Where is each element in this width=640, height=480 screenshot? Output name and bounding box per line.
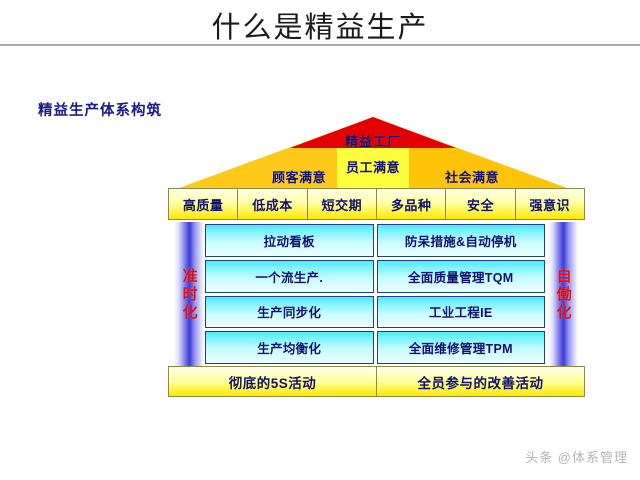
foundation-beam: 彻底的5S活动 全员参与的改善活动 [168, 366, 585, 397]
practice-column-right: 防呆措施&自动停机 全面质量管理TQM 工业工程IE 全面维修管理TPM [377, 224, 546, 364]
watermark: 头条 @体系管理 [525, 447, 628, 466]
pillar-left-label: 准时化 [179, 268, 198, 322]
pillar-left: 准时化 [174, 222, 204, 368]
top-beam: 高质量 低成本 短交期 多品种 安全 强意识 [168, 188, 585, 220]
foundation-cell: 彻底的5S活动 [169, 367, 377, 396]
practice-column-left: 拉动看板 一个流生产. 生产同步化 生产均衡化 [205, 224, 374, 364]
roof-left-label: 顾客满意 [259, 167, 339, 186]
practice-cell: 全面维修管理TPM [377, 331, 546, 364]
practice-cell: 防呆措施&自动停机 [377, 224, 546, 257]
top-beam-cell: 高质量 [169, 189, 238, 219]
roof-center-label: 员工满意 [337, 157, 409, 176]
practice-cell: 生产均衡化 [205, 331, 374, 364]
practice-cell: 全面质量管理TQM [377, 260, 546, 293]
lean-production-house-diagram: 精益工厂 顾客满意 员工满意 社会满意 高质量 低成本 短交期 多品种 安全 强… [0, 0, 640, 480]
practice-cell: 一个流生产. [205, 260, 374, 293]
practice-grid: 拉动看板 一个流生产. 生产同步化 生产均衡化 防呆措施&自动停机 全面质量管理… [205, 224, 545, 364]
practice-cell: 工业工程IE [377, 296, 546, 329]
roof-group: 精益工厂 顾客满意 员工满意 社会满意 [179, 117, 567, 189]
roof-top-label: 精益工厂 [179, 131, 567, 150]
top-beam-cell: 强意识 [516, 189, 584, 219]
top-beam-cell: 短交期 [308, 189, 377, 219]
practice-cell: 生产同步化 [205, 296, 374, 329]
foundation-cell: 全员参与的改善活动 [377, 367, 584, 396]
top-beam-cell: 安全 [446, 189, 515, 219]
pillar-right: 自働化 [548, 222, 578, 368]
pillar-right-label: 自働化 [553, 268, 572, 322]
top-beam-cell: 多品种 [377, 189, 446, 219]
top-beam-cell: 低成本 [238, 189, 307, 219]
roof-right-label: 社会满意 [429, 167, 515, 186]
practice-cell: 拉动看板 [205, 224, 374, 257]
